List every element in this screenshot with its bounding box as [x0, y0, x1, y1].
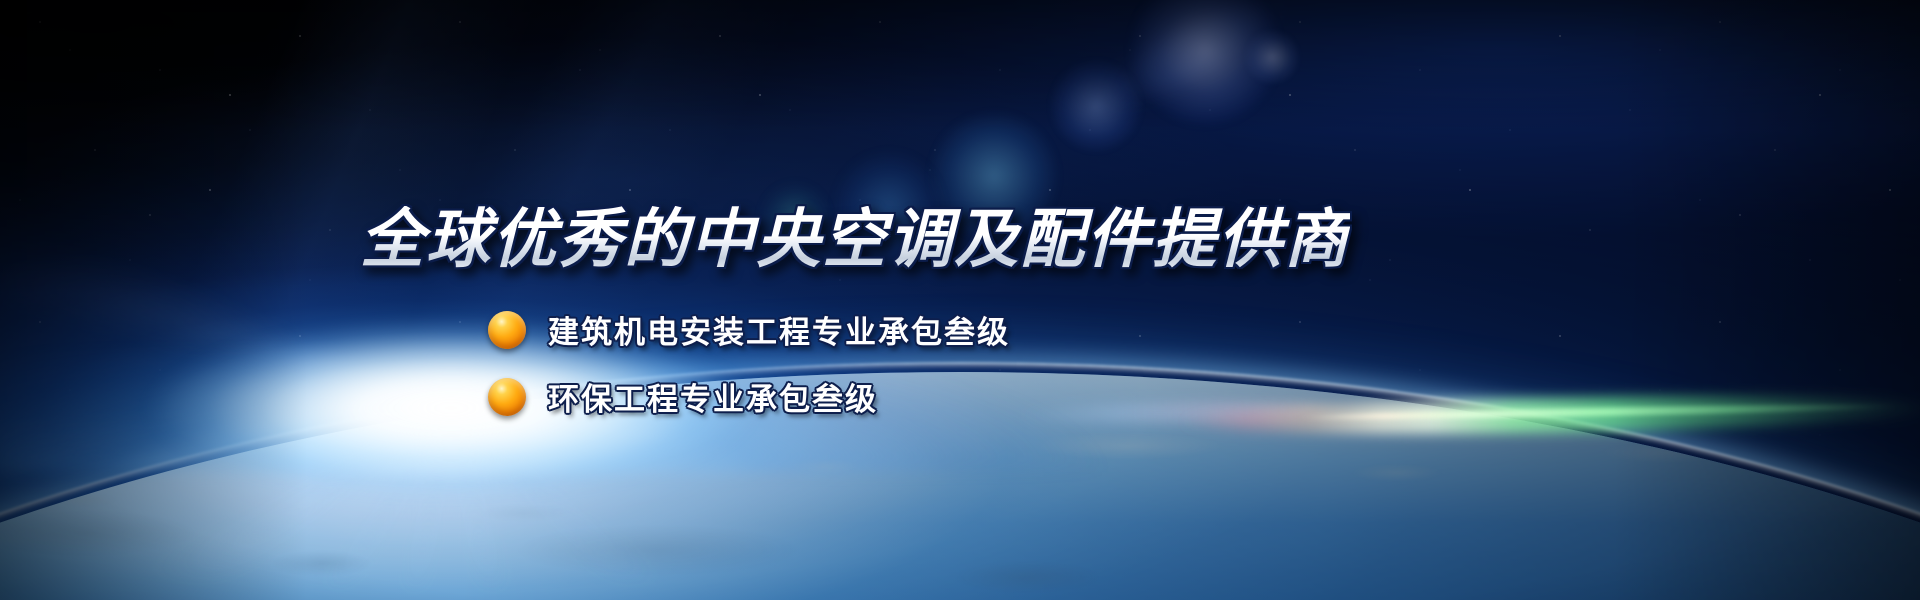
bullet-item-1-label: 建筑机电安装工程专业承包叁级 — [548, 307, 1010, 352]
banner-headline: 全球优秀的中央空调及配件提供商 — [360, 206, 1350, 273]
banner-content: 全球优秀的中央空调及配件提供商 建筑机电安装工程专业承包叁级 环保工程专业承包叁… — [0, 0, 1920, 600]
bullet-item-1: 建筑机电安装工程专业承包叁级 — [488, 307, 1010, 352]
bullet-item-2: 环保工程专业承包叁级 — [488, 374, 1010, 419]
banner-bullet-list: 建筑机电安装工程专业承包叁级 环保工程专业承包叁级 — [360, 307, 1010, 419]
bullet-item-2-label: 环保工程专业承包叁级 — [548, 374, 878, 419]
gold-sphere-bullet-icon — [488, 311, 526, 349]
gold-sphere-bullet-icon — [488, 378, 526, 416]
hero-banner: 全球优秀的中央空调及配件提供商 建筑机电安装工程专业承包叁级 环保工程专业承包叁… — [0, 0, 1920, 600]
